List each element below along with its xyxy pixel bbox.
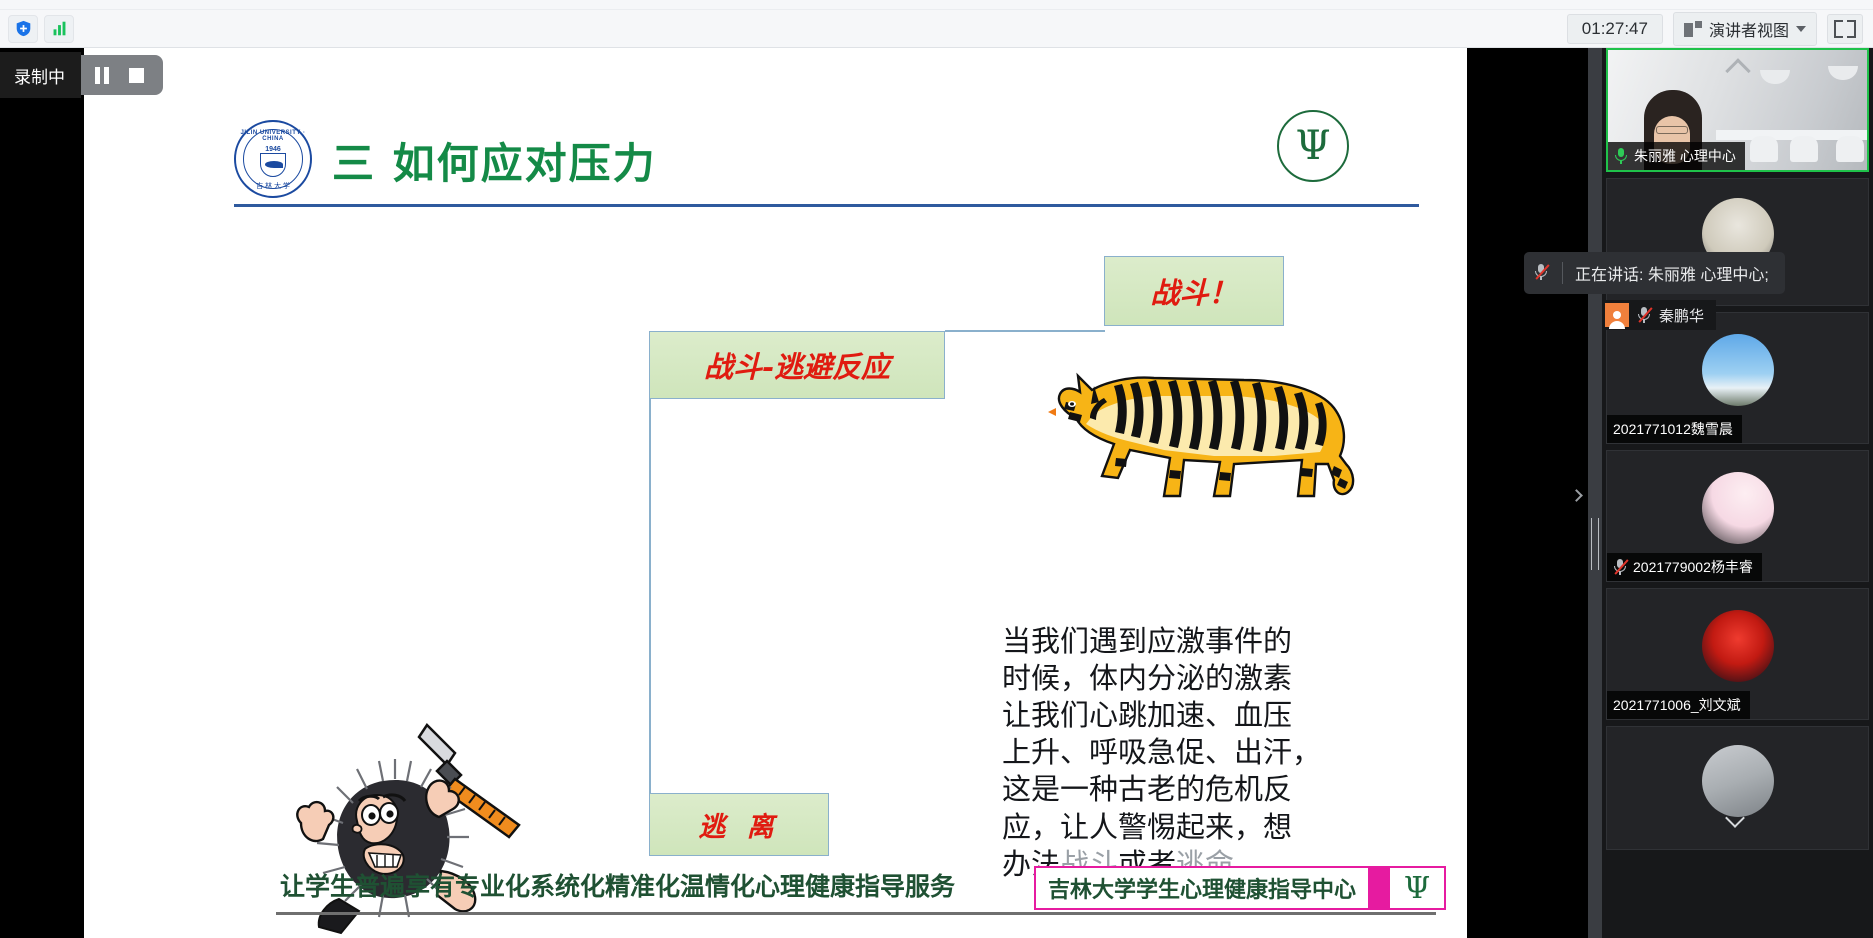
- shield-icon: [15, 20, 32, 37]
- logo-year: 1946: [236, 146, 310, 153]
- participant-tile-active[interactable]: 朱丽雅 心理中心: [1606, 48, 1869, 172]
- para-line-2: 时候，体内分泌的激素: [1002, 660, 1332, 697]
- scroll-down-button[interactable]: [1728, 811, 1748, 831]
- chevron-right-icon: [1570, 489, 1583, 502]
- screen-root: 01:27:47 演讲者视图 JILIN UNIVERSITY · CHINA …: [0, 0, 1873, 938]
- footer-center-name: 吉林大学学生心理健康指导中心: [1034, 866, 1370, 910]
- view-mode-selector[interactable]: 演讲者视图: [1673, 12, 1817, 46]
- participant-tile[interactable]: 2021779002杨丰睿: [1606, 450, 1869, 582]
- participant-nameplate: 2021771012魏雪晨: [1607, 415, 1742, 443]
- participant-tile[interactable]: 2021771012魏雪晨: [1606, 312, 1869, 444]
- avatar: [1702, 745, 1774, 817]
- shared-slide: JILIN UNIVERSITY · CHINA 1946 吉 林 大 学 三 …: [84, 48, 1467, 938]
- fullscreen-icon: [1834, 20, 1843, 29]
- footer-center-badge: 吉林大学学生心理健康指导中心 Ψ: [1034, 866, 1446, 910]
- mic-muted-icon: [1534, 263, 1550, 283]
- slide-footer-slogan: 让学生普遍享有专业化系统化精准化温情化心理健康指导服务: [280, 867, 955, 903]
- panel-resize-rail[interactable]: [1588, 48, 1602, 938]
- box-flee: 逃 离: [649, 793, 829, 856]
- participant-nameplate: 朱丽雅 心理中心: [1608, 142, 1745, 170]
- mic-muted-icon: [1637, 306, 1651, 324]
- lamp-icon: [1828, 66, 1858, 80]
- psi-glyph: Ψ: [1295, 126, 1330, 166]
- avatar: [1702, 334, 1774, 406]
- recording-indicator: 录制中: [0, 52, 163, 98]
- footer-badge-accent: [1370, 866, 1390, 910]
- tiger-illustration: [1034, 346, 1374, 511]
- avatar-placeholder-icon: [1605, 303, 1629, 327]
- chair-shape: [1790, 136, 1818, 162]
- participant-chip[interactable]: 秦鹏华: [1602, 300, 1716, 330]
- participants-panel[interactable]: 朱丽雅 心理中心 2021771012魏雪晨 2021779002杨丰睿: [1602, 48, 1873, 938]
- participant-nameplate: 2021779002杨丰睿: [1607, 553, 1762, 581]
- meeting-timer: 01:27:47: [1567, 14, 1663, 44]
- slide-body-paragraph: 当我们遇到应激事件的 时候，体内分泌的激素 让我们心跳加速、血压 上升、呼吸急促…: [1002, 623, 1332, 883]
- footer-rule: [276, 912, 1436, 915]
- participant-name: 2021779002杨丰睿: [1633, 557, 1753, 577]
- logo-bottom-text: 吉 林 大 学: [236, 181, 310, 191]
- participant-nameplate: 2021771006_刘文斌: [1607, 691, 1750, 719]
- participant-name: 朱丽雅 心理中心: [1634, 146, 1736, 166]
- recording-status-label: 录制中: [0, 52, 81, 98]
- drag-grip-icon: [1591, 518, 1599, 570]
- stats-extension-button[interactable]: [44, 15, 74, 43]
- participant-tile[interactable]: 2021771006_刘文斌: [1606, 588, 1869, 720]
- jilin-university-logo-icon: JILIN UNIVERSITY · CHINA 1946 吉 林 大 学: [234, 120, 312, 198]
- chair-shape: [1836, 136, 1864, 162]
- speaker-view-icon: [1684, 21, 1702, 37]
- para-line-4: 上升、呼吸急促、出汗，: [1002, 734, 1332, 771]
- chevron-down-icon: [1796, 26, 1806, 32]
- chevron-down-icon: [1725, 808, 1745, 828]
- chair-shape: [1750, 136, 1778, 162]
- collapse-panel-button[interactable]: [1568, 470, 1584, 520]
- bar-chart-icon: [51, 20, 68, 37]
- slide-title: 三 如何应对压力: [332, 130, 657, 191]
- para-line-6: 应，让人警惕起来，想: [1002, 809, 1332, 846]
- connector-vertical: [649, 398, 651, 794]
- pause-icon: [95, 67, 109, 84]
- participant-name: 2021771012魏雪晨: [1613, 419, 1733, 439]
- psychology-center-mark-icon: Ψ: [1277, 110, 1349, 182]
- stop-recording-button[interactable]: [121, 60, 151, 90]
- para-line-5: 这是一种古老的危机反: [1002, 771, 1332, 808]
- stop-icon: [129, 68, 144, 83]
- toast-divider: [1562, 262, 1563, 284]
- os-title-strip: [0, 0, 1873, 10]
- mic-muted-icon: [1613, 558, 1627, 576]
- footer-center-mark-icon: Ψ: [1390, 866, 1446, 910]
- avatar: [1702, 610, 1774, 682]
- connector-horizontal: [945, 330, 1105, 332]
- box-fight: 战斗！: [1104, 256, 1284, 326]
- meeting-toolbar-right: 01:27:47 演讲者视图: [1567, 10, 1863, 48]
- logo-top-text: JILIN UNIVERSITY · CHINA: [236, 130, 310, 142]
- psi-glyph-footer: Ψ: [1404, 871, 1430, 906]
- participant-name: 秦鹏华: [1659, 305, 1704, 326]
- speaking-toast-text: 正在讲话: 朱丽雅 心理中心;: [1575, 261, 1769, 285]
- glasses-icon: [1656, 126, 1688, 134]
- para-line-1: 当我们遇到应激事件的: [1002, 623, 1332, 660]
- title-underline: [234, 204, 1419, 207]
- box-fight-flight-response: 战斗-逃避反应: [649, 331, 945, 399]
- chevron-up-icon: [1725, 58, 1750, 83]
- para-line-3: 让我们心跳加速、血压: [1002, 697, 1332, 734]
- participant-name: 2021771006_刘文斌: [1613, 695, 1741, 715]
- view-mode-label: 演讲者视图: [1709, 17, 1789, 41]
- fullscreen-button[interactable]: [1827, 14, 1863, 44]
- participant-tile[interactable]: [1606, 726, 1869, 850]
- mic-on-icon: [1614, 147, 1628, 165]
- slide-header: JILIN UNIVERSITY · CHINA 1946 吉 林 大 学 三 …: [84, 48, 1467, 208]
- speaking-toast: 正在讲话: 朱丽雅 心理中心;: [1524, 252, 1785, 294]
- recording-controls: [81, 55, 163, 95]
- shield-extension-button[interactable]: [8, 15, 38, 43]
- pause-recording-button[interactable]: [87, 60, 117, 90]
- avatar: [1702, 472, 1774, 544]
- lamp-icon: [1760, 70, 1790, 84]
